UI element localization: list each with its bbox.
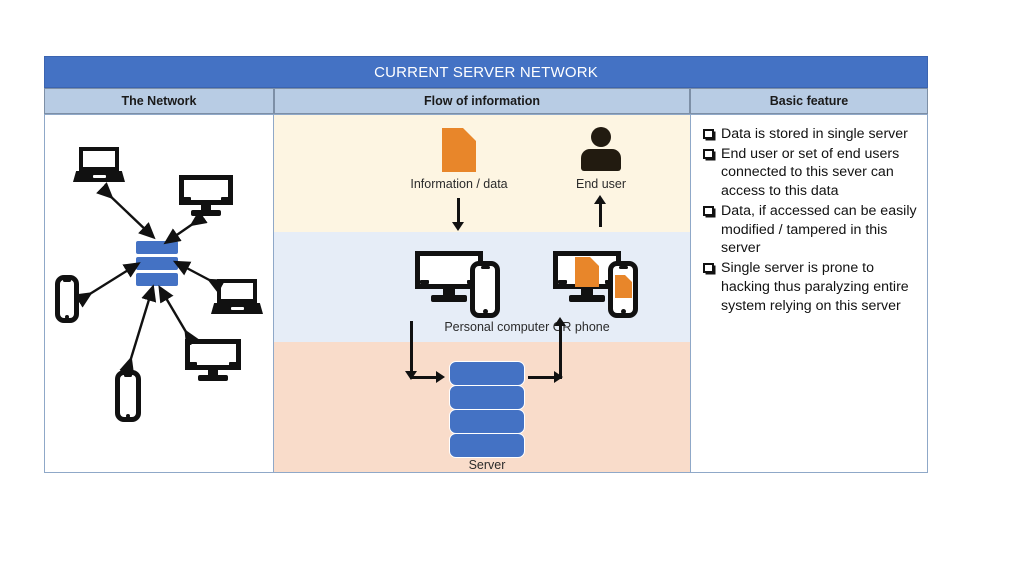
column-header-network: The Network xyxy=(44,88,274,114)
column-header-flow: Flow of information xyxy=(274,88,690,114)
band-information xyxy=(274,115,690,232)
phone-icon xyxy=(470,261,500,318)
list-item: Data, if accessed can be easily modified… xyxy=(699,202,921,258)
information-document-icon xyxy=(442,128,476,172)
list-item: Single server is prone to hacking thus p… xyxy=(699,259,921,315)
end-user-label: End user xyxy=(576,177,626,191)
list-item: End user or set of end users connected t… xyxy=(699,145,921,201)
server-label: Server xyxy=(469,458,506,472)
list-item: Data is stored in single server xyxy=(699,125,921,144)
checkbox-bullet-icon xyxy=(703,129,714,139)
server-bar xyxy=(449,361,525,386)
feature-text: End user or set of end users connected t… xyxy=(721,145,921,201)
device-label: Personal computer OR phone xyxy=(444,320,609,334)
server-bar xyxy=(449,385,525,410)
flow-column: Information / data End user xyxy=(274,114,690,473)
server-bar xyxy=(449,433,525,458)
information-label: Information / data xyxy=(410,177,507,191)
end-user-icon xyxy=(580,127,622,171)
document-icon xyxy=(615,275,632,298)
feature-text: Single server is prone to hacking thus p… xyxy=(721,259,921,315)
network-connectors xyxy=(45,115,273,472)
basic-feature-column: Data is stored in single server End user… xyxy=(690,114,928,473)
checkbox-bullet-icon xyxy=(703,206,714,216)
diagram-title: CURRENT SERVER NETWORK xyxy=(44,56,928,88)
checkbox-bullet-icon xyxy=(703,263,714,273)
phone-with-document-icon xyxy=(608,261,638,318)
feature-text: Data, if accessed can be easily modified… xyxy=(721,202,921,258)
feature-text: Data is stored in single server xyxy=(721,125,908,144)
document-icon xyxy=(575,257,599,287)
server-network-diagram: CURRENT SERVER NETWORK The Network Flow … xyxy=(44,56,928,473)
feature-list: Data is stored in single server End user… xyxy=(699,125,921,316)
server-bar xyxy=(449,409,525,434)
checkbox-bullet-icon xyxy=(703,149,714,159)
network-column xyxy=(44,114,274,473)
column-header-basic-feature: Basic feature xyxy=(690,88,928,114)
